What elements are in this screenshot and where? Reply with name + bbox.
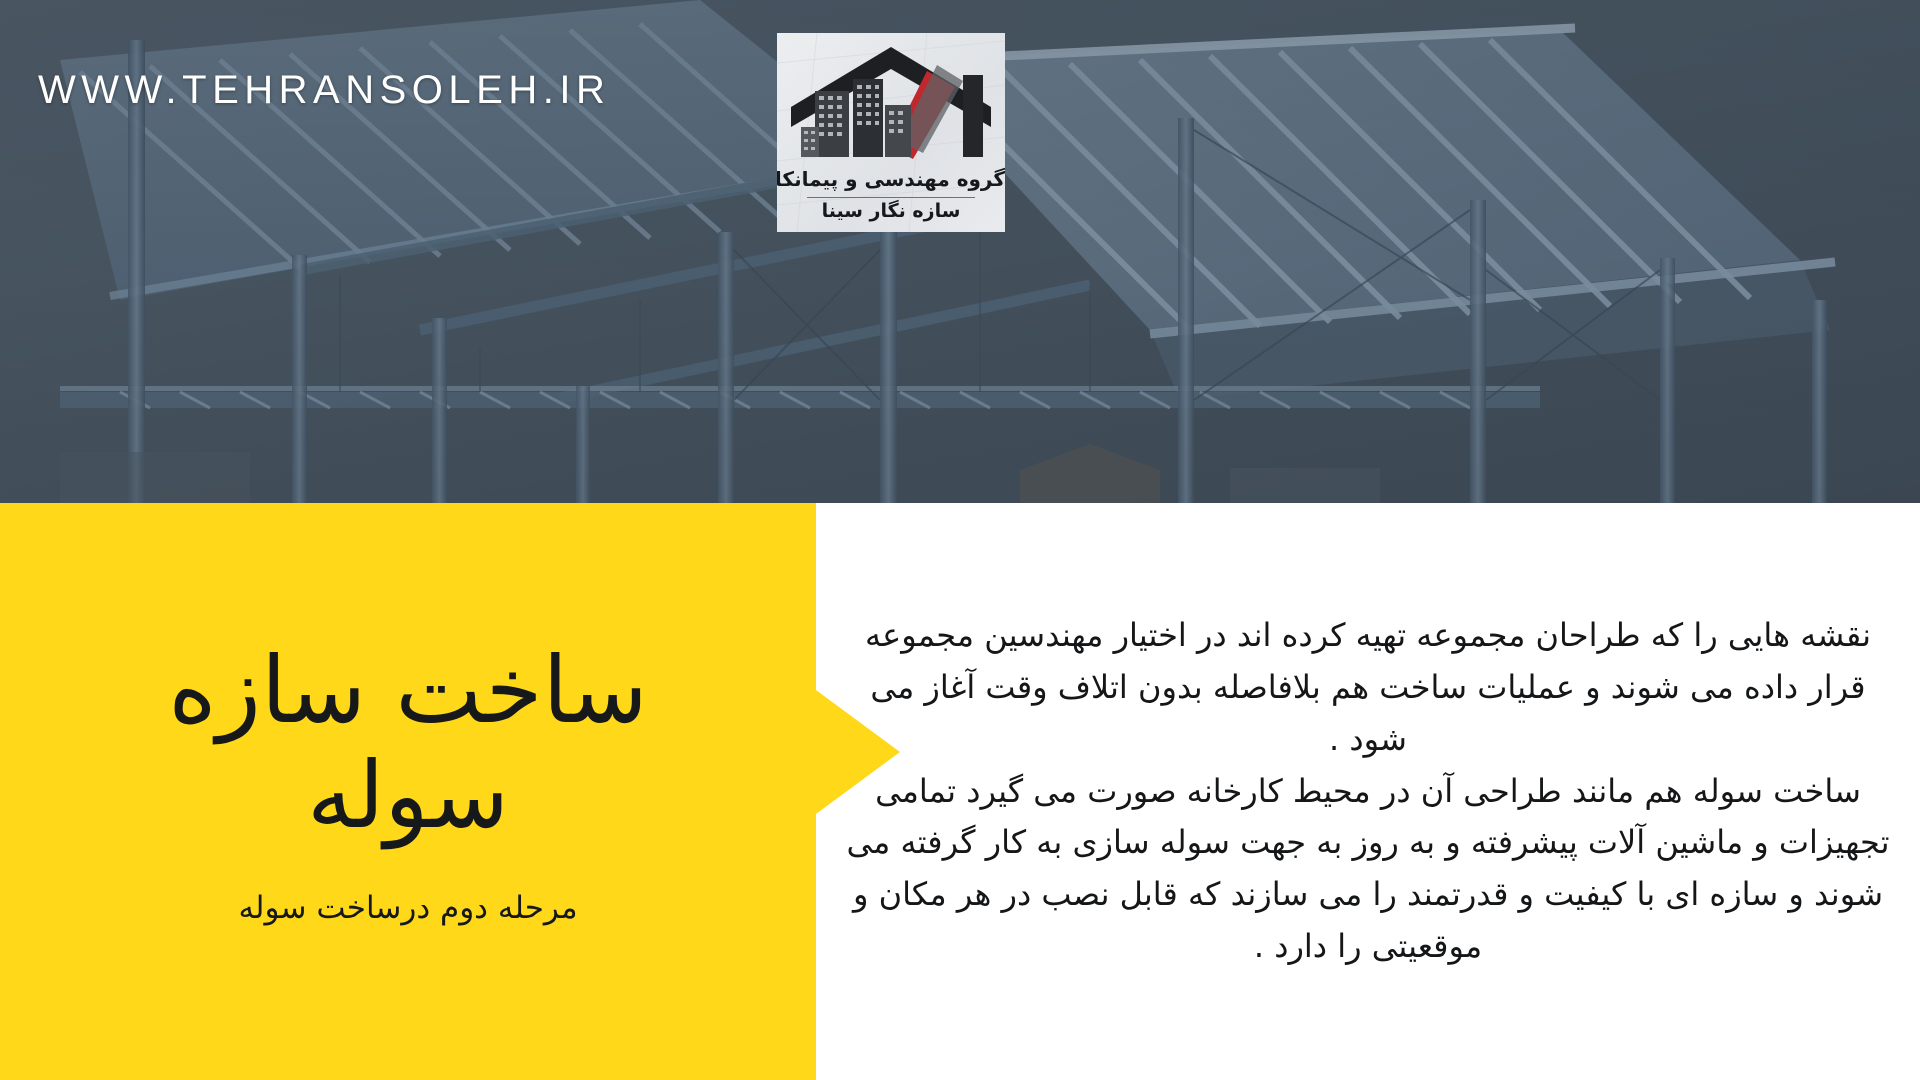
hero-photo-section: WWW.TEHRANSOLEH.IR <box>0 0 1920 503</box>
site-url-text: WWW.TEHRANSOLEH.IR <box>38 68 610 113</box>
body-text: نقشه هایی را که طراحان مجموعه تهیه کرده … <box>838 610 1898 973</box>
headline-line-1: ساخت سازه <box>168 639 647 744</box>
page-title: ساخت سازه سوله <box>168 639 647 849</box>
logo-company-name: سازه نگار سینا <box>777 200 1005 222</box>
content-section: ساخت سازه سوله مرحله دوم درساخت سوله نقش… <box>0 503 1920 1080</box>
promo-banner: WWW.TEHRANSOLEH.IR <box>0 0 1920 1080</box>
logo-company-type: گروه مهندسی و پیمانکاری <box>777 167 1005 191</box>
title-block: ساخت سازه سوله مرحله دوم درساخت سوله <box>0 503 816 1080</box>
company-logo: گروه مهندسی و پیمانکاری سازه نگار سینا <box>777 33 1005 232</box>
logo-divider <box>807 197 975 198</box>
house-roof-buildings-icon <box>777 35 1005 175</box>
body-paragraph-2: ساخت سوله هم مانند طراحی آن در محیط کارخ… <box>838 766 1898 973</box>
headline-line-2: سوله <box>168 744 647 849</box>
body-panel: نقشه هایی را که طراحان مجموعه تهیه کرده … <box>816 503 1920 1080</box>
body-paragraph-1: نقشه هایی را که طراحان مجموعه تهیه کرده … <box>838 610 1898 765</box>
page-subtitle: مرحله دوم درساخت سوله <box>238 890 577 926</box>
